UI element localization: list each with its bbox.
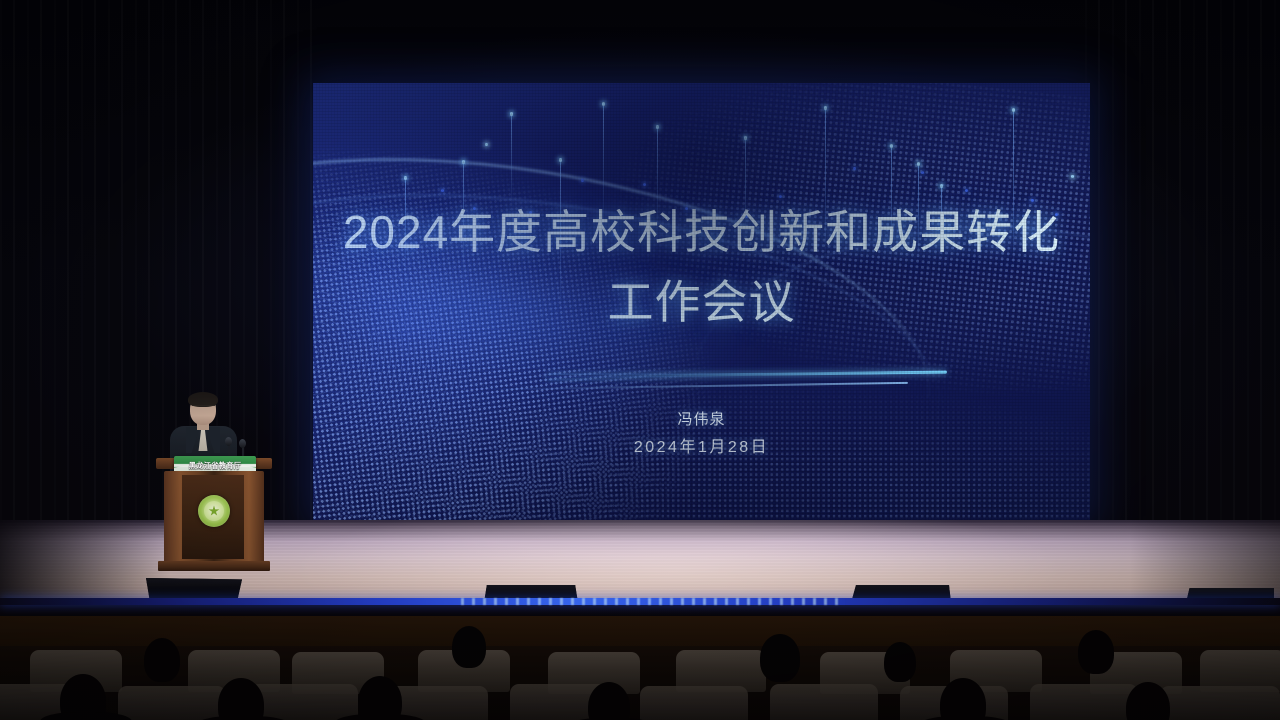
audience-head — [452, 626, 486, 668]
microphone-icon — [239, 439, 246, 448]
conference-scene: 2024年度高校科技创新和成果转化 工作会议 冯伟泉 2024年1月28日 — [0, 0, 1280, 720]
podium-base — [158, 561, 270, 571]
floor-shadow-left — [0, 520, 170, 602]
seat — [640, 686, 748, 720]
stage-led-strip-glint — [461, 598, 845, 605]
screen-vignette — [313, 83, 1090, 520]
seat — [1160, 686, 1280, 720]
seat — [770, 684, 878, 720]
floor-light-sheen — [230, 520, 1126, 602]
emblem-icon — [198, 495, 230, 527]
seat — [118, 686, 226, 720]
microphone-icon — [225, 437, 232, 446]
podium-banner-text: 黑龙江省教育厅 — [174, 461, 256, 471]
audience-seating — [0, 616, 1280, 720]
audience-head — [760, 634, 800, 682]
led-presentation-screen: 2024年度高校科技创新和成果转化 工作会议 冯伟泉 2024年1月28日 — [313, 83, 1090, 520]
audience-shoulder — [40, 712, 132, 720]
audience-head — [1078, 630, 1114, 674]
seat — [1030, 684, 1138, 720]
audience-head — [144, 638, 180, 682]
podium-with-speaker: 黑龙江省教育厅 — [148, 392, 283, 620]
seat — [250, 684, 358, 720]
stage-front-lip — [0, 598, 1280, 618]
speaker-glasses — [192, 405, 215, 411]
audience-head — [884, 642, 916, 682]
